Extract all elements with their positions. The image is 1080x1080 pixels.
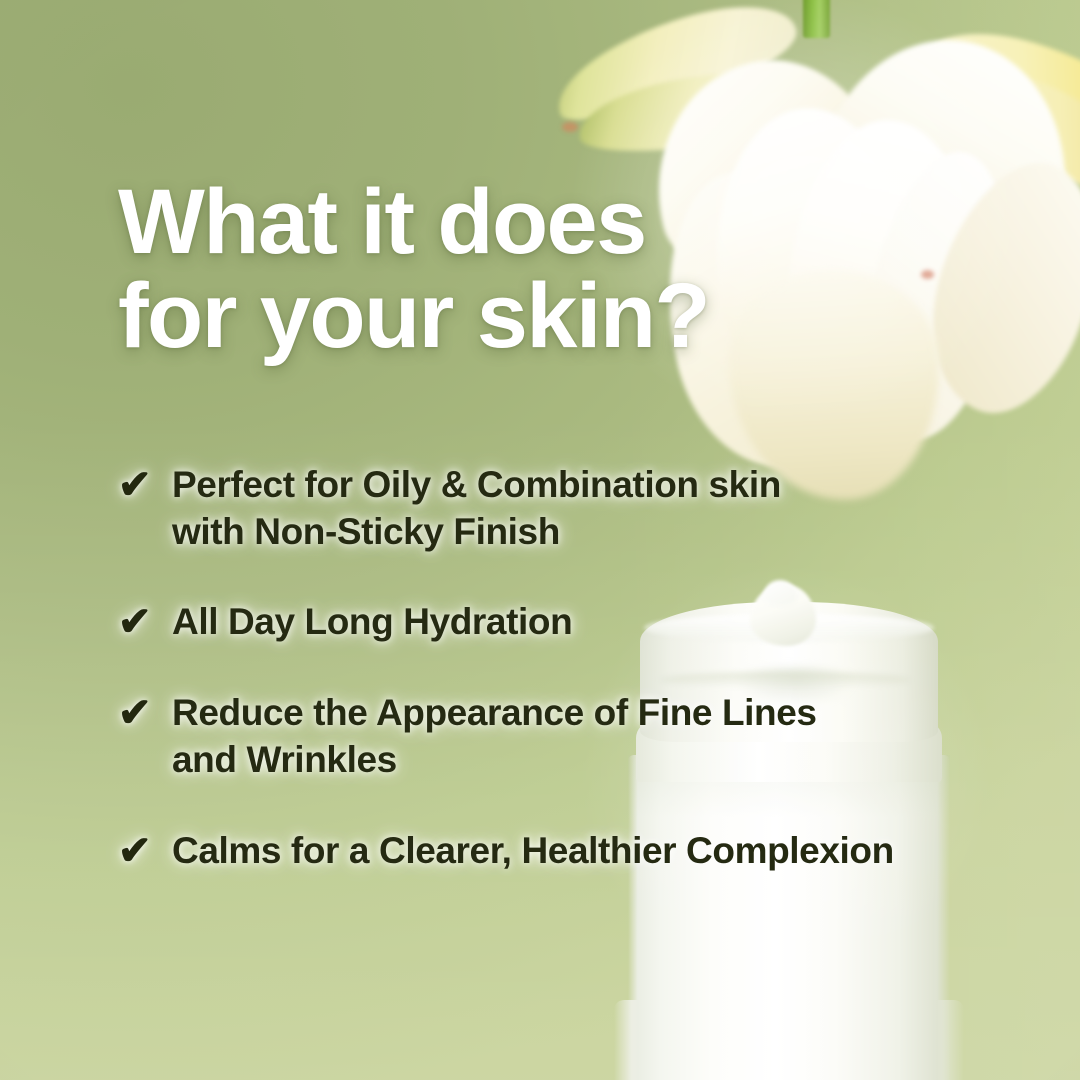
list-item: ✔ Reduce the Appearance of Fine Lines an… <box>118 690 958 783</box>
benefit-line-1: Perfect for Oily & Combination skin <box>172 464 781 505</box>
list-item: ✔ Calms for a Clearer, Healthier Complex… <box>118 828 958 875</box>
benefit-list: ✔ Perfect for Oily & Combination skin wi… <box>118 462 958 875</box>
benefit-line-2: with Non-Sticky Finish <box>172 511 560 552</box>
check-icon: ✔ <box>118 462 172 509</box>
flower-stem <box>803 0 830 38</box>
check-icon: ✔ <box>118 690 172 737</box>
page-title: What it does for your skin? <box>118 176 778 364</box>
benefit-text: Reduce the Appearance of Fine Lines and … <box>172 690 958 783</box>
headline-line-1: What it does <box>118 171 646 273</box>
benefit-text: Calms for a Clearer, Healthier Complexio… <box>172 828 958 875</box>
petal-tip-center <box>921 270 934 279</box>
headline-line-2: for your skin? <box>118 270 778 364</box>
benefit-line-2: and Wrinkles <box>172 739 397 780</box>
benefit-text: All Day Long Hydration <box>172 599 958 646</box>
check-icon: ✔ <box>118 599 172 646</box>
benefit-line-1: All Day Long Hydration <box>172 601 572 642</box>
benefit-line-1: Calms for a Clearer, Healthier Complexio… <box>172 830 894 871</box>
list-item: ✔ Perfect for Oily & Combination skin wi… <box>118 462 958 555</box>
list-item: ✔ All Day Long Hydration <box>118 599 958 646</box>
petal-tip-left <box>562 122 578 132</box>
promo-creative: What it does for your skin? ✔ Perfect fo… <box>0 0 1080 1080</box>
check-icon: ✔ <box>118 828 172 875</box>
benefit-line-1: Reduce the Appearance of Fine Lines <box>172 692 817 733</box>
benefit-text: Perfect for Oily & Combination skin with… <box>172 462 958 555</box>
